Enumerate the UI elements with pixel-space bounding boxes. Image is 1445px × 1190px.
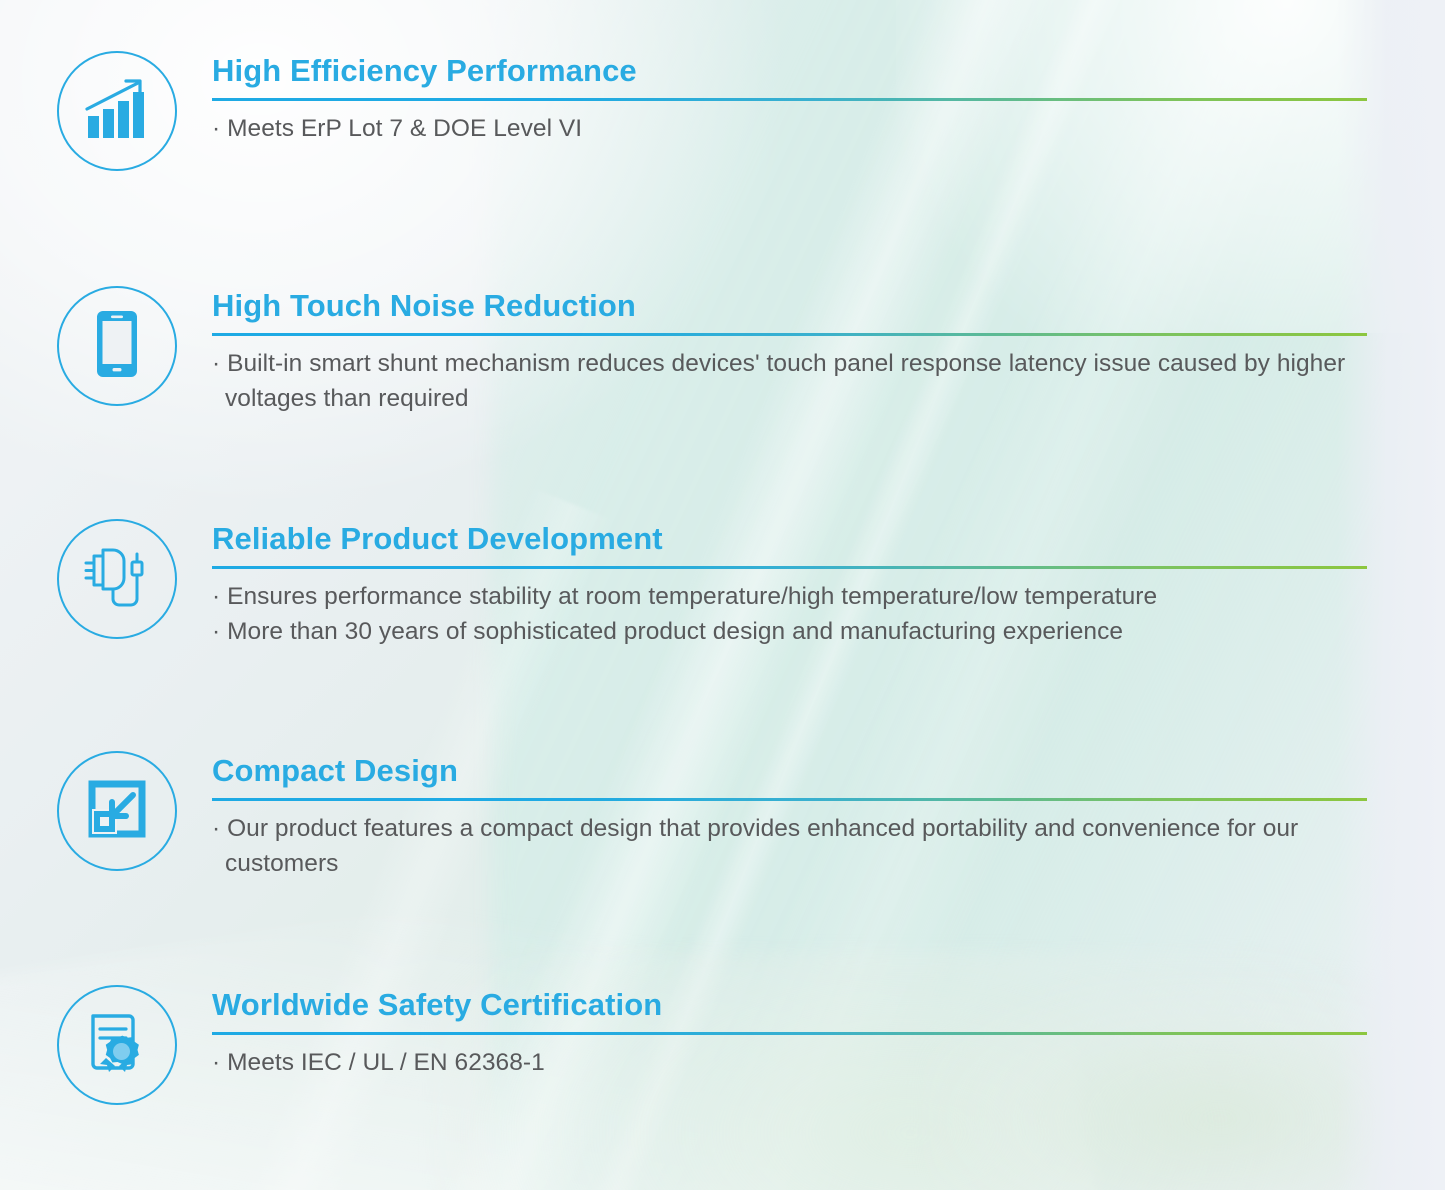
power-adapter-icon (80, 542, 154, 617)
icon-circle (57, 751, 177, 871)
feature-body: High Touch Noise Reduction · Built-in sm… (212, 289, 1367, 416)
feature-title: High Efficiency Performance (212, 54, 1367, 89)
feature-bullet: · Meets ErP Lot 7 & DOE Level VI (212, 112, 1367, 147)
feature-body: Worldwide Safety Certification · Meets I… (212, 988, 1367, 1081)
feature-bullet: · More than 30 years of sophisticated pr… (212, 615, 1367, 650)
feature-list: High Efficiency Performance · Meets ErP … (0, 0, 1445, 1190)
feature-body: Reliable Product Development · Ensures p… (212, 522, 1367, 649)
feature-divider (212, 333, 1367, 336)
feature-icon-wrap (56, 285, 178, 407)
smartphone-icon (95, 309, 139, 384)
feature-icon-wrap (56, 984, 178, 1106)
feature-body: High Efficiency Performance · Meets ErP … (212, 54, 1367, 147)
icon-circle (57, 51, 177, 171)
feature-bullets: · Meets IEC / UL / EN 62368-1 (212, 1046, 1367, 1081)
feature-icon-wrap (56, 518, 178, 640)
feature-divider (212, 98, 1367, 101)
bar-chart-growth-icon (84, 78, 150, 145)
feature-body: Compact Design · Our product features a … (212, 754, 1367, 881)
feature-icon-wrap (56, 750, 178, 872)
feature-bullets: · Built-in smart shunt mechanism reduces… (212, 347, 1367, 417)
feature-divider (212, 566, 1367, 569)
feature-bullet: · Meets IEC / UL / EN 62368-1 (212, 1046, 1367, 1081)
feature-divider (212, 798, 1367, 801)
icon-circle (57, 519, 177, 639)
feature-divider (212, 1032, 1367, 1035)
feature-bullet: · Our product features a compact design … (212, 812, 1367, 882)
feature-title: High Touch Noise Reduction (212, 289, 1367, 324)
feature-bullet: · Built-in smart shunt mechanism reduces… (212, 347, 1367, 417)
feature-bullets: · Ensures performance stability at room … (212, 580, 1367, 650)
feature-bullets: · Our product features a compact design … (212, 812, 1367, 882)
feature-bullet: · Ensures performance stability at room … (212, 580, 1367, 615)
certificate-award-icon (85, 1010, 149, 1081)
feature-icon-wrap (56, 50, 178, 172)
feature-bullets: · Meets ErP Lot 7 & DOE Level VI (212, 112, 1367, 147)
feature-title: Reliable Product Development (212, 522, 1367, 557)
compact-resize-icon (86, 778, 148, 845)
icon-circle (57, 286, 177, 406)
feature-title: Compact Design (212, 754, 1367, 789)
icon-circle (57, 985, 177, 1105)
feature-title: Worldwide Safety Certification (212, 988, 1367, 1023)
